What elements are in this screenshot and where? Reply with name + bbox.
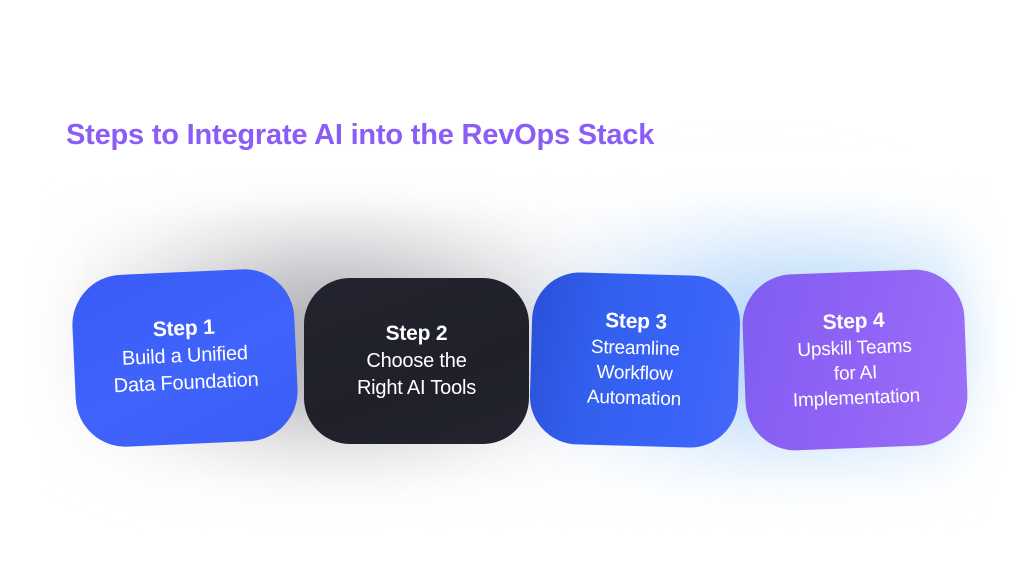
step-card-1-description: Build a Unified Data Foundation	[112, 340, 259, 399]
step-card-3-number: Step 3	[605, 308, 668, 336]
step-card-4[interactable]: Step 4 Upskill Teams for AI Implementati…	[741, 268, 970, 452]
step-card-4-number: Step 4	[822, 308, 885, 337]
step-card-3[interactable]: Step 3 Streamline Workflow Automation	[529, 271, 742, 449]
slide-canvas: Steps to Integrate AI into the RevOps St…	[0, 0, 1024, 586]
step-card-2[interactable]: Step 2 Choose the Right AI Tools	[304, 278, 529, 444]
step-card-2-description: Choose the Right AI Tools	[357, 348, 476, 401]
step-card-1-number: Step 1	[152, 315, 215, 344]
step-card-4-description: Upskill Teams for AI Implementation	[791, 334, 921, 414]
step-card-3-description: Streamline Workflow Automation	[587, 335, 683, 413]
steps-diagram: Step 1 Build a Unified Data Foundation S…	[0, 0, 1024, 586]
step-card-1[interactable]: Step 1 Build a Unified Data Foundation	[70, 267, 300, 449]
step-card-2-number: Step 2	[386, 321, 448, 347]
